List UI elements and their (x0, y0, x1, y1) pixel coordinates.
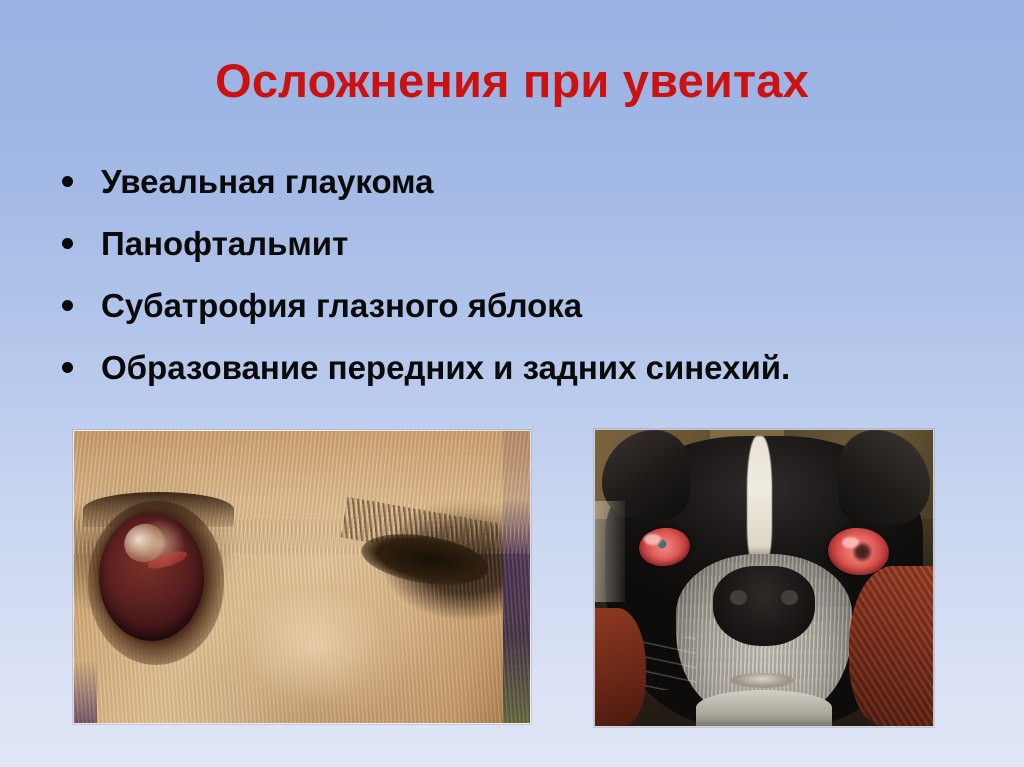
terrier-collar-left (594, 608, 646, 726)
list-item: Субатрофия глазного яблока (56, 274, 986, 336)
bullet-text: Субатрофия глазного яблока (101, 289, 582, 322)
list-item: Панофтальмит (56, 212, 986, 274)
terrier-cheek-highlight (595, 501, 625, 602)
photo-boston-terrier-red-eyes (594, 429, 934, 727)
terrier-left-nostril (730, 590, 747, 605)
terrier-philtrum (756, 631, 770, 672)
bullet-text: Увеальная глаукома (101, 165, 434, 198)
bullet-list: Увеальная глаукома Панофтальмит Субатроф… (56, 150, 986, 398)
bullet-dot-icon (62, 176, 73, 187)
bullet-dot-icon (62, 238, 73, 249)
dog-muzzle (211, 583, 421, 724)
terrier-right-eye-highlight (842, 537, 859, 549)
list-item: Увеальная глаукома (56, 150, 986, 212)
photo-dog-uveal-glaucoma (73, 430, 531, 724)
slide-title: Осложнения при увеитах (0, 56, 1024, 107)
bullet-text: Образование передних и задних синехий. (101, 351, 790, 384)
bullet-dot-icon (62, 362, 73, 373)
terrier-right-nostril (781, 590, 798, 605)
list-item: Образование передних и задних синехий. (56, 336, 986, 398)
terrier-white-blaze (747, 436, 772, 566)
terrier-collar (849, 566, 935, 726)
bullet-text: Панофтальмит (101, 227, 348, 260)
terrier-chin (696, 690, 831, 726)
bullet-dot-icon (62, 300, 73, 311)
terrier-mouth (730, 673, 794, 688)
presentation-slide: Осложнения при увеитах Увеальная глауком… (0, 0, 1024, 767)
